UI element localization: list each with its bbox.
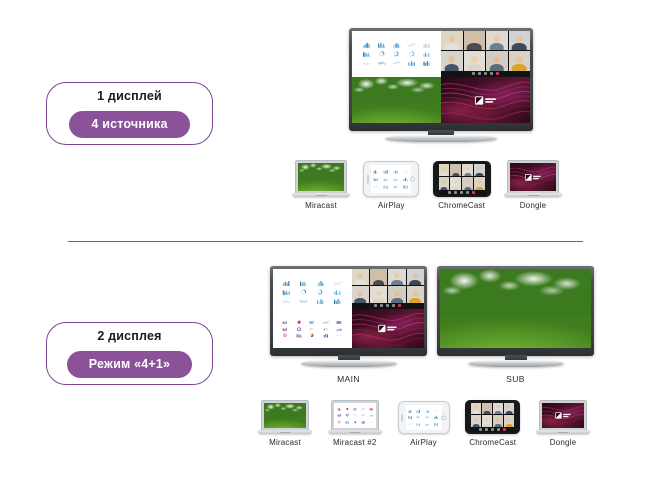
tv-bezel <box>270 266 427 356</box>
video-tile <box>486 51 508 70</box>
device-label: Miracast <box>305 202 337 210</box>
device-airplay[interactable]: AirPlay <box>398 401 450 447</box>
tv-sub <box>437 266 594 356</box>
logo-icon <box>379 325 386 332</box>
panel-brand-waves <box>352 309 424 349</box>
panel-charts-color <box>273 309 352 349</box>
brand-logo <box>475 96 496 104</box>
tv-quad <box>349 28 533 131</box>
device-chromecast[interactable]: ChromeCast <box>433 161 491 210</box>
panel-video-conference <box>441 31 530 77</box>
panel-charts-blue <box>352 31 441 77</box>
tv-screen <box>352 31 530 123</box>
device-chromecast[interactable]: ChromeCast <box>465 400 520 447</box>
video-tile <box>464 51 486 70</box>
device-miracast[interactable]: Miracast <box>292 160 350 210</box>
section-divider <box>68 241 583 242</box>
panel-bliss-wallpaper <box>352 77 441 123</box>
device-label: AirPlay <box>378 202 405 210</box>
slide-canvas: 1 дисплей 4 источника <box>0 0 650 487</box>
device-label: AirPlay <box>410 439 437 447</box>
device-dongle[interactable]: Dongle <box>536 400 590 447</box>
device-airplay[interactable]: AirPlay <box>363 161 419 210</box>
share-icon[interactable] <box>484 72 487 75</box>
badge-card-two-displays: 2 дисплея Режим «4+1» <box>46 322 213 385</box>
tv-screen <box>273 269 424 348</box>
logo-icon <box>525 174 531 180</box>
logo-icon <box>555 412 561 418</box>
device-label: ChromeCast <box>469 439 516 447</box>
mic-icon[interactable] <box>472 72 475 75</box>
video-tile <box>509 31 531 50</box>
logo-icon <box>475 96 483 104</box>
video-tile-grid <box>441 31 530 71</box>
device-label: ChromeCast <box>438 202 485 210</box>
device-row-two-displays: Miracast <box>258 400 590 447</box>
chat-icon[interactable] <box>490 72 493 75</box>
device-miracast[interactable]: Miracast <box>258 400 312 447</box>
badge-title: 2 дисплея <box>97 330 161 343</box>
tv-label-sub: SUB <box>437 374 594 384</box>
tv-screen <box>440 269 591 348</box>
video-tile <box>441 31 463 50</box>
tv-bezel <box>437 266 594 356</box>
tv-label-main: MAIN <box>270 374 427 384</box>
panel-bliss-wallpaper <box>440 269 591 348</box>
record-icon[interactable] <box>496 72 499 75</box>
panel-brand-waves <box>441 77 530 123</box>
device-label: Dongle <box>520 202 547 210</box>
tv-main <box>270 266 427 356</box>
camera-icon[interactable] <box>478 72 481 75</box>
device-row-one-display: Miracast <box>292 160 562 210</box>
panel-charts-blue <box>273 269 352 309</box>
badge-pill: 4 источника <box>69 111 189 138</box>
badge-pill: Режим «4+1» <box>67 351 192 378</box>
badge-card-one-display: 1 дисплей 4 источника <box>46 82 213 145</box>
badge-title: 1 дисплей <box>97 90 162 103</box>
device-label: Miracast #2 <box>333 439 377 447</box>
video-tile <box>464 31 486 50</box>
device-dongle[interactable]: Dongle <box>504 160 562 210</box>
video-tile <box>509 51 531 70</box>
device-label: Miracast <box>269 439 301 447</box>
device-miracast-2[interactable]: Miracast #2 <box>328 400 382 447</box>
video-tile <box>486 31 508 50</box>
video-tile <box>441 51 463 70</box>
panel-video-conference <box>352 269 424 309</box>
device-label: Dongle <box>550 439 577 447</box>
tv-bezel <box>349 28 533 131</box>
